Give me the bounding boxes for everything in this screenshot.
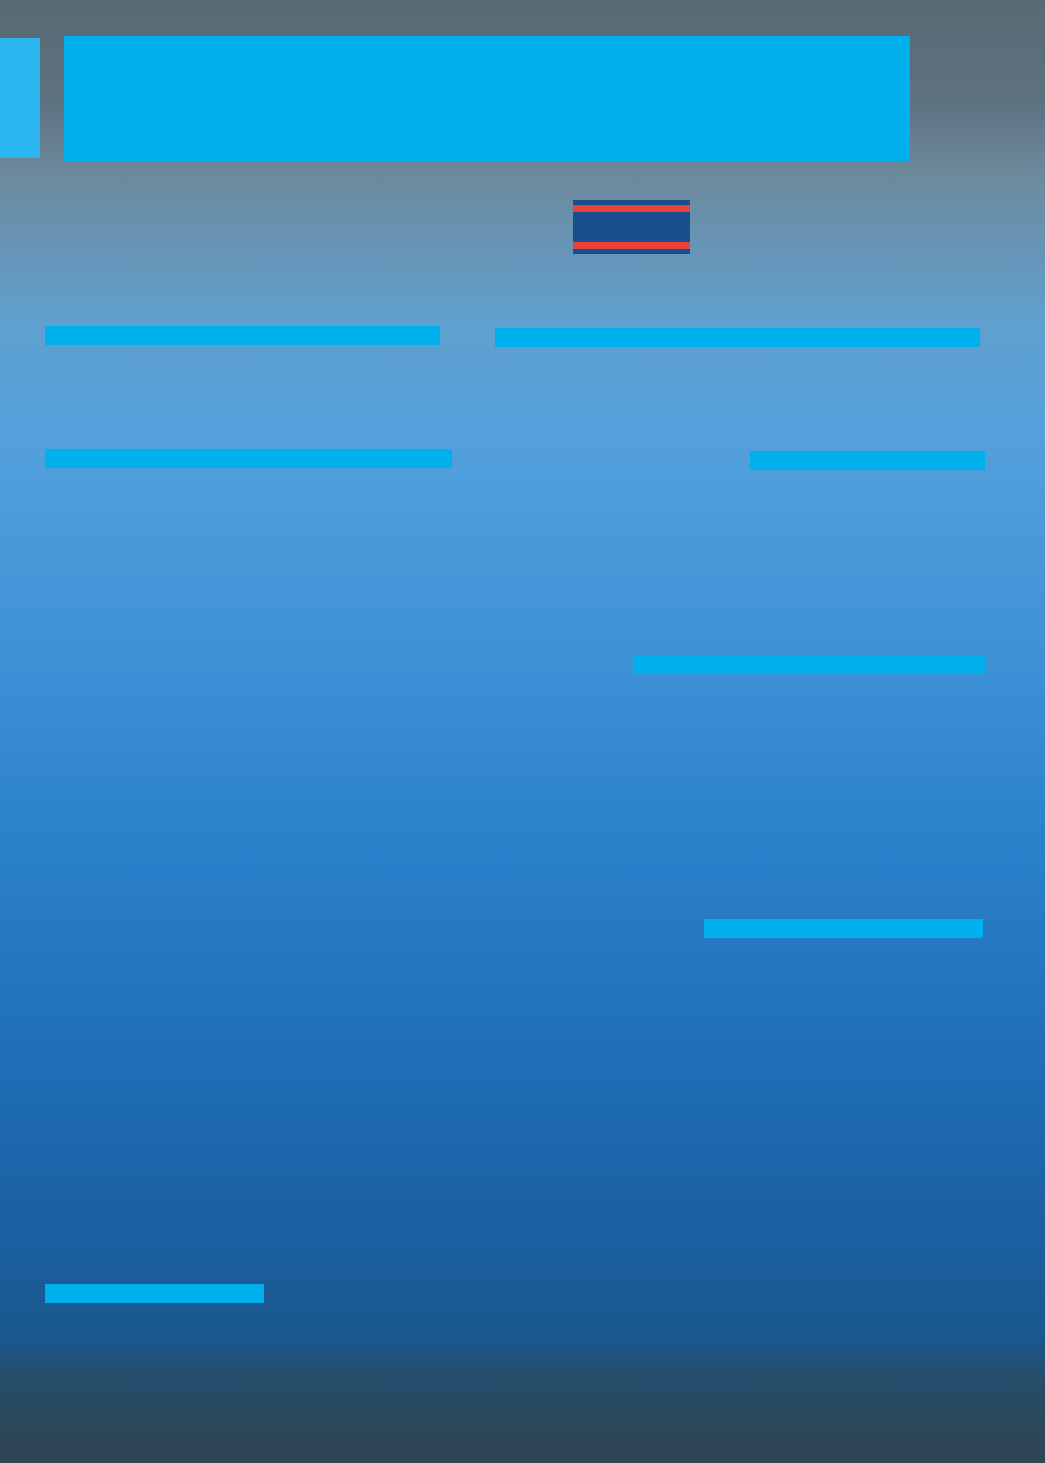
bottom-network-graphic	[0, 1343, 1045, 1463]
header-accent-square	[0, 38, 40, 158]
stat-water-depth	[750, 451, 985, 470]
header-banner	[64, 36, 910, 162]
lsct-logo	[573, 200, 973, 262]
infographic-page	[0, 0, 1045, 1463]
stat-yard-equipment	[704, 919, 983, 938]
stat-reefer-plugs	[45, 1284, 264, 1303]
stat-quay-length	[495, 328, 980, 347]
logo-mark	[573, 200, 690, 254]
stat-terminal-area	[45, 326, 440, 345]
stat-handling-capacity	[45, 449, 452, 468]
header-halftone-dissolve	[826, 36, 966, 162]
stat-quay-cranes	[633, 655, 985, 674]
